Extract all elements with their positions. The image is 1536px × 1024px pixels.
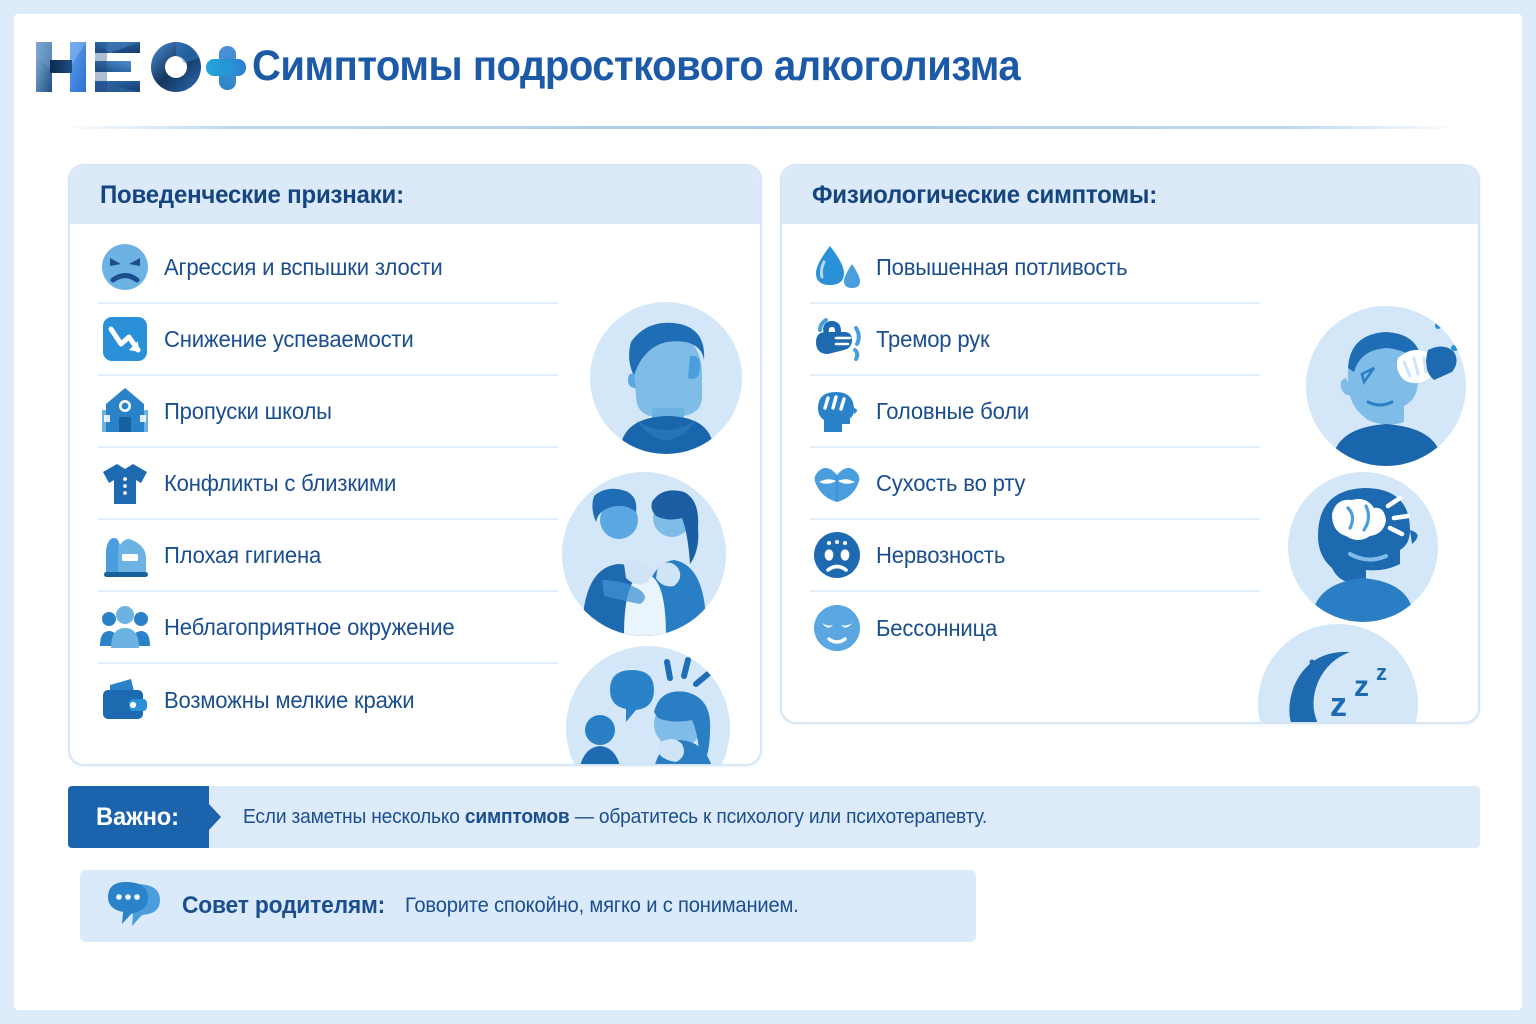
header-divider xyxy=(60,126,1460,129)
list-item[interactable]: Тремор рук xyxy=(810,304,1260,376)
header: Симптомы подросткового алкоголизма xyxy=(14,14,1522,126)
important-badge-label: Важно: xyxy=(96,803,179,832)
list-item-label: Тремор рук xyxy=(876,326,990,353)
behavioral-symptom-list: Агрессия и вспышки злости Снижение успев… xyxy=(98,232,558,736)
list-item-label: Головные боли xyxy=(876,398,1029,425)
list-item-label: Сухость во рту xyxy=(876,470,1025,497)
list-item[interactable]: Нервозность xyxy=(810,520,1260,592)
page-title: Симптомы подросткового алкоголизма xyxy=(252,42,1020,91)
lips-icon xyxy=(810,456,864,510)
worried-face-icon xyxy=(810,528,864,582)
list-item[interactable]: Снижение успеваемости xyxy=(98,304,558,376)
list-item[interactable]: Конфликты с близкими xyxy=(98,448,558,520)
infographic-canvas: Симптомы подросткового алкоголизма Повед… xyxy=(14,14,1522,1010)
important-text-before: Если заметны несколько xyxy=(243,806,465,828)
list-item[interactable]: Неблагоприятное окружение xyxy=(98,592,558,664)
advice-banner-text: Говорите спокойно, мягко и с пониманием. xyxy=(405,894,799,918)
panel-physiological-body: Повышенная потливость Тремор рук xyxy=(782,224,1478,722)
physiological-symptom-list: Повышенная потливость Тремор рук xyxy=(810,232,1260,664)
important-text-after: — обратитесь к психологу или психотерапе… xyxy=(570,806,988,828)
panel-behavioral-header: Поведенческие признаки: xyxy=(70,166,760,224)
list-item-label: Агрессия и вспышки злости xyxy=(164,254,442,281)
important-text-bold: симптомов xyxy=(465,806,570,828)
brain-pain-illustration xyxy=(1288,472,1438,622)
important-badge: Важно: xyxy=(68,786,209,848)
advice-banner: Совет родителям: Говорите спокойно, мягк… xyxy=(80,870,976,942)
family-conflict-illustration xyxy=(562,472,726,636)
neo-plus-logo-icon xyxy=(36,36,246,98)
advice-banner-title: Совет родителям: xyxy=(182,892,385,920)
parent-talk-illustration xyxy=(566,646,730,766)
list-item-label: Возможны мелкие кражи xyxy=(164,687,414,714)
list-item[interactable]: Агрессия и вспышки злости xyxy=(98,232,558,304)
wallet-icon xyxy=(98,673,152,727)
speech-bubble-icon xyxy=(102,880,168,932)
group-people-icon xyxy=(98,600,152,654)
list-item[interactable]: Пропуски школы xyxy=(98,376,558,448)
important-banner: Важно: Если заметны несколько симптомов … xyxy=(68,786,1480,848)
sweat-drops-icon xyxy=(810,240,864,294)
list-item[interactable]: Головные боли xyxy=(810,376,1260,448)
panel-behavioral-signs: Поведенческие признаки: Агрессия и вспыш… xyxy=(68,164,762,766)
list-item[interactable]: Бессонница xyxy=(810,592,1260,664)
sleepless-face-icon xyxy=(810,601,864,655)
list-item-label: Нервозность xyxy=(876,542,1005,569)
panel-physiological-header: Физиологические симптомы: xyxy=(782,166,1478,224)
head-pain-icon xyxy=(810,384,864,438)
list-item[interactable]: Сухость во рту xyxy=(810,448,1260,520)
declining-chart-icon xyxy=(98,312,152,366)
panel-behavioral-body: Агрессия и вспышки злости Снижение успев… xyxy=(70,224,760,764)
list-item-label: Плохая гигиена xyxy=(164,542,321,569)
list-item[interactable]: Возможны мелкие кражи xyxy=(98,664,558,736)
panel-behavioral-heading: Поведенческие признаки: xyxy=(100,181,404,210)
list-item-label: Повышенная потливость xyxy=(876,254,1127,281)
teen-portrait-illustration xyxy=(590,302,742,454)
list-item-label: Конфликты с близкими xyxy=(164,470,396,497)
badge-arrow-icon xyxy=(208,803,221,831)
shaking-hand-icon xyxy=(810,312,864,366)
headache-illustration xyxy=(1306,306,1466,466)
panel-physiological-symptoms: Физиологические симптомы: Повышенная пот… xyxy=(780,164,1480,724)
svg-text:z: z xyxy=(1330,686,1347,724)
list-item[interactable]: Повышенная потливость xyxy=(810,232,1260,304)
list-item-label: Снижение успеваемости xyxy=(164,326,413,353)
list-item-label: Неблагоприятное окружение xyxy=(164,614,454,641)
list-item[interactable]: Плохая гигиена xyxy=(98,520,558,592)
svg-text:z: z xyxy=(1376,660,1387,685)
list-item-label: Пропуски школы xyxy=(164,398,332,425)
svg-text:z: z xyxy=(1354,670,1369,703)
list-item-label: Бессонница xyxy=(876,615,997,642)
insomnia-moon-illustration: z z z xyxy=(1258,624,1418,724)
tshirt-icon xyxy=(98,456,152,510)
panel-physiological-heading: Физиологические симптомы: xyxy=(812,181,1157,210)
important-banner-text: Если заметны несколько симптомов — обрат… xyxy=(243,806,987,829)
angry-face-icon xyxy=(98,240,152,294)
school-building-icon xyxy=(98,384,152,438)
trash-bag-icon xyxy=(98,528,152,582)
